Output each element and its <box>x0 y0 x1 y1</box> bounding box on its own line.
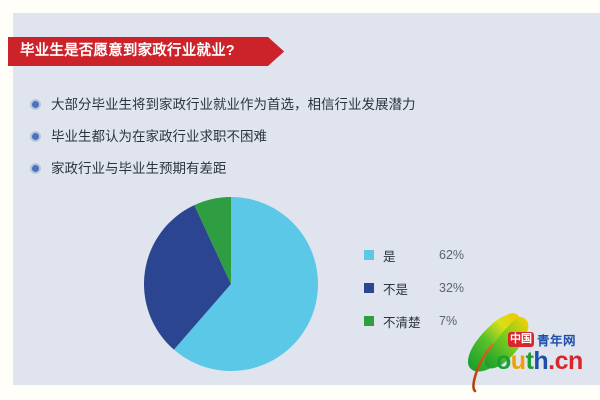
legend-item: 不清楚 7% <box>364 312 464 330</box>
logo-letter: c <box>555 349 568 374</box>
legend-label: 不是 <box>383 279 439 298</box>
legend-value: 62% <box>439 248 464 262</box>
site-logo: 中国 青年网 outh.cn <box>452 305 598 393</box>
logo-letter: h <box>533 349 548 374</box>
pie-chart <box>144 197 318 371</box>
legend-value: 32% <box>439 281 464 295</box>
legend-item: 不是 32% <box>364 279 464 297</box>
list-item: 大部分毕业生将到家政行业就业作为首选，相信行业发展潜力 <box>30 92 550 117</box>
legend-swatch-unsure <box>364 316 374 326</box>
legend-swatch-yes <box>364 250 374 260</box>
logo-letter: o <box>496 349 511 374</box>
logo-chinese-text: 中国 青年网 <box>508 331 576 348</box>
bullet-dot-icon <box>30 163 41 174</box>
logo-letter: n <box>568 349 583 374</box>
pie-chart-svg <box>144 197 318 371</box>
bullet-dot-icon <box>30 99 41 110</box>
list-item: 毕业生都认为在家政行业求职不困难 <box>30 124 550 149</box>
list-item-label: 毕业生都认为在家政行业求职不困难 <box>51 130 267 144</box>
legend-label: 是 <box>383 246 439 265</box>
list-item-label: 家政行业与毕业生预期有差距 <box>51 162 227 176</box>
logo-wordmark: outh.cn <box>496 349 583 374</box>
list-item: 家政行业与毕业生预期有差距 <box>30 156 550 181</box>
legend-swatch-no <box>364 283 374 293</box>
logo-letter: u <box>511 349 526 374</box>
list-item-label: 大部分毕业生将到家政行业就业作为首选，相信行业发展潜力 <box>51 98 416 112</box>
bullet-list: 大部分毕业生将到家政行业就业作为首选，相信行业发展潜力 毕业生都认为在家政行业求… <box>30 92 550 188</box>
page-title: 毕业生是否愿意到家政行业就业? <box>20 37 235 66</box>
legend-item: 是 62% <box>364 246 464 264</box>
legend-label: 不清楚 <box>383 312 439 331</box>
screenshot-canvas: 毕业生是否愿意到家政行业就业? 大部分毕业生将到家政行业就业作为首选，相信行业发… <box>0 0 600 400</box>
logo-badge-box: 中国 <box>508 332 534 347</box>
bullet-dot-icon <box>30 131 41 142</box>
logo-letter: t <box>526 349 534 374</box>
chart-legend: 是 62% 不是 32% 不清楚 7% <box>364 246 464 345</box>
